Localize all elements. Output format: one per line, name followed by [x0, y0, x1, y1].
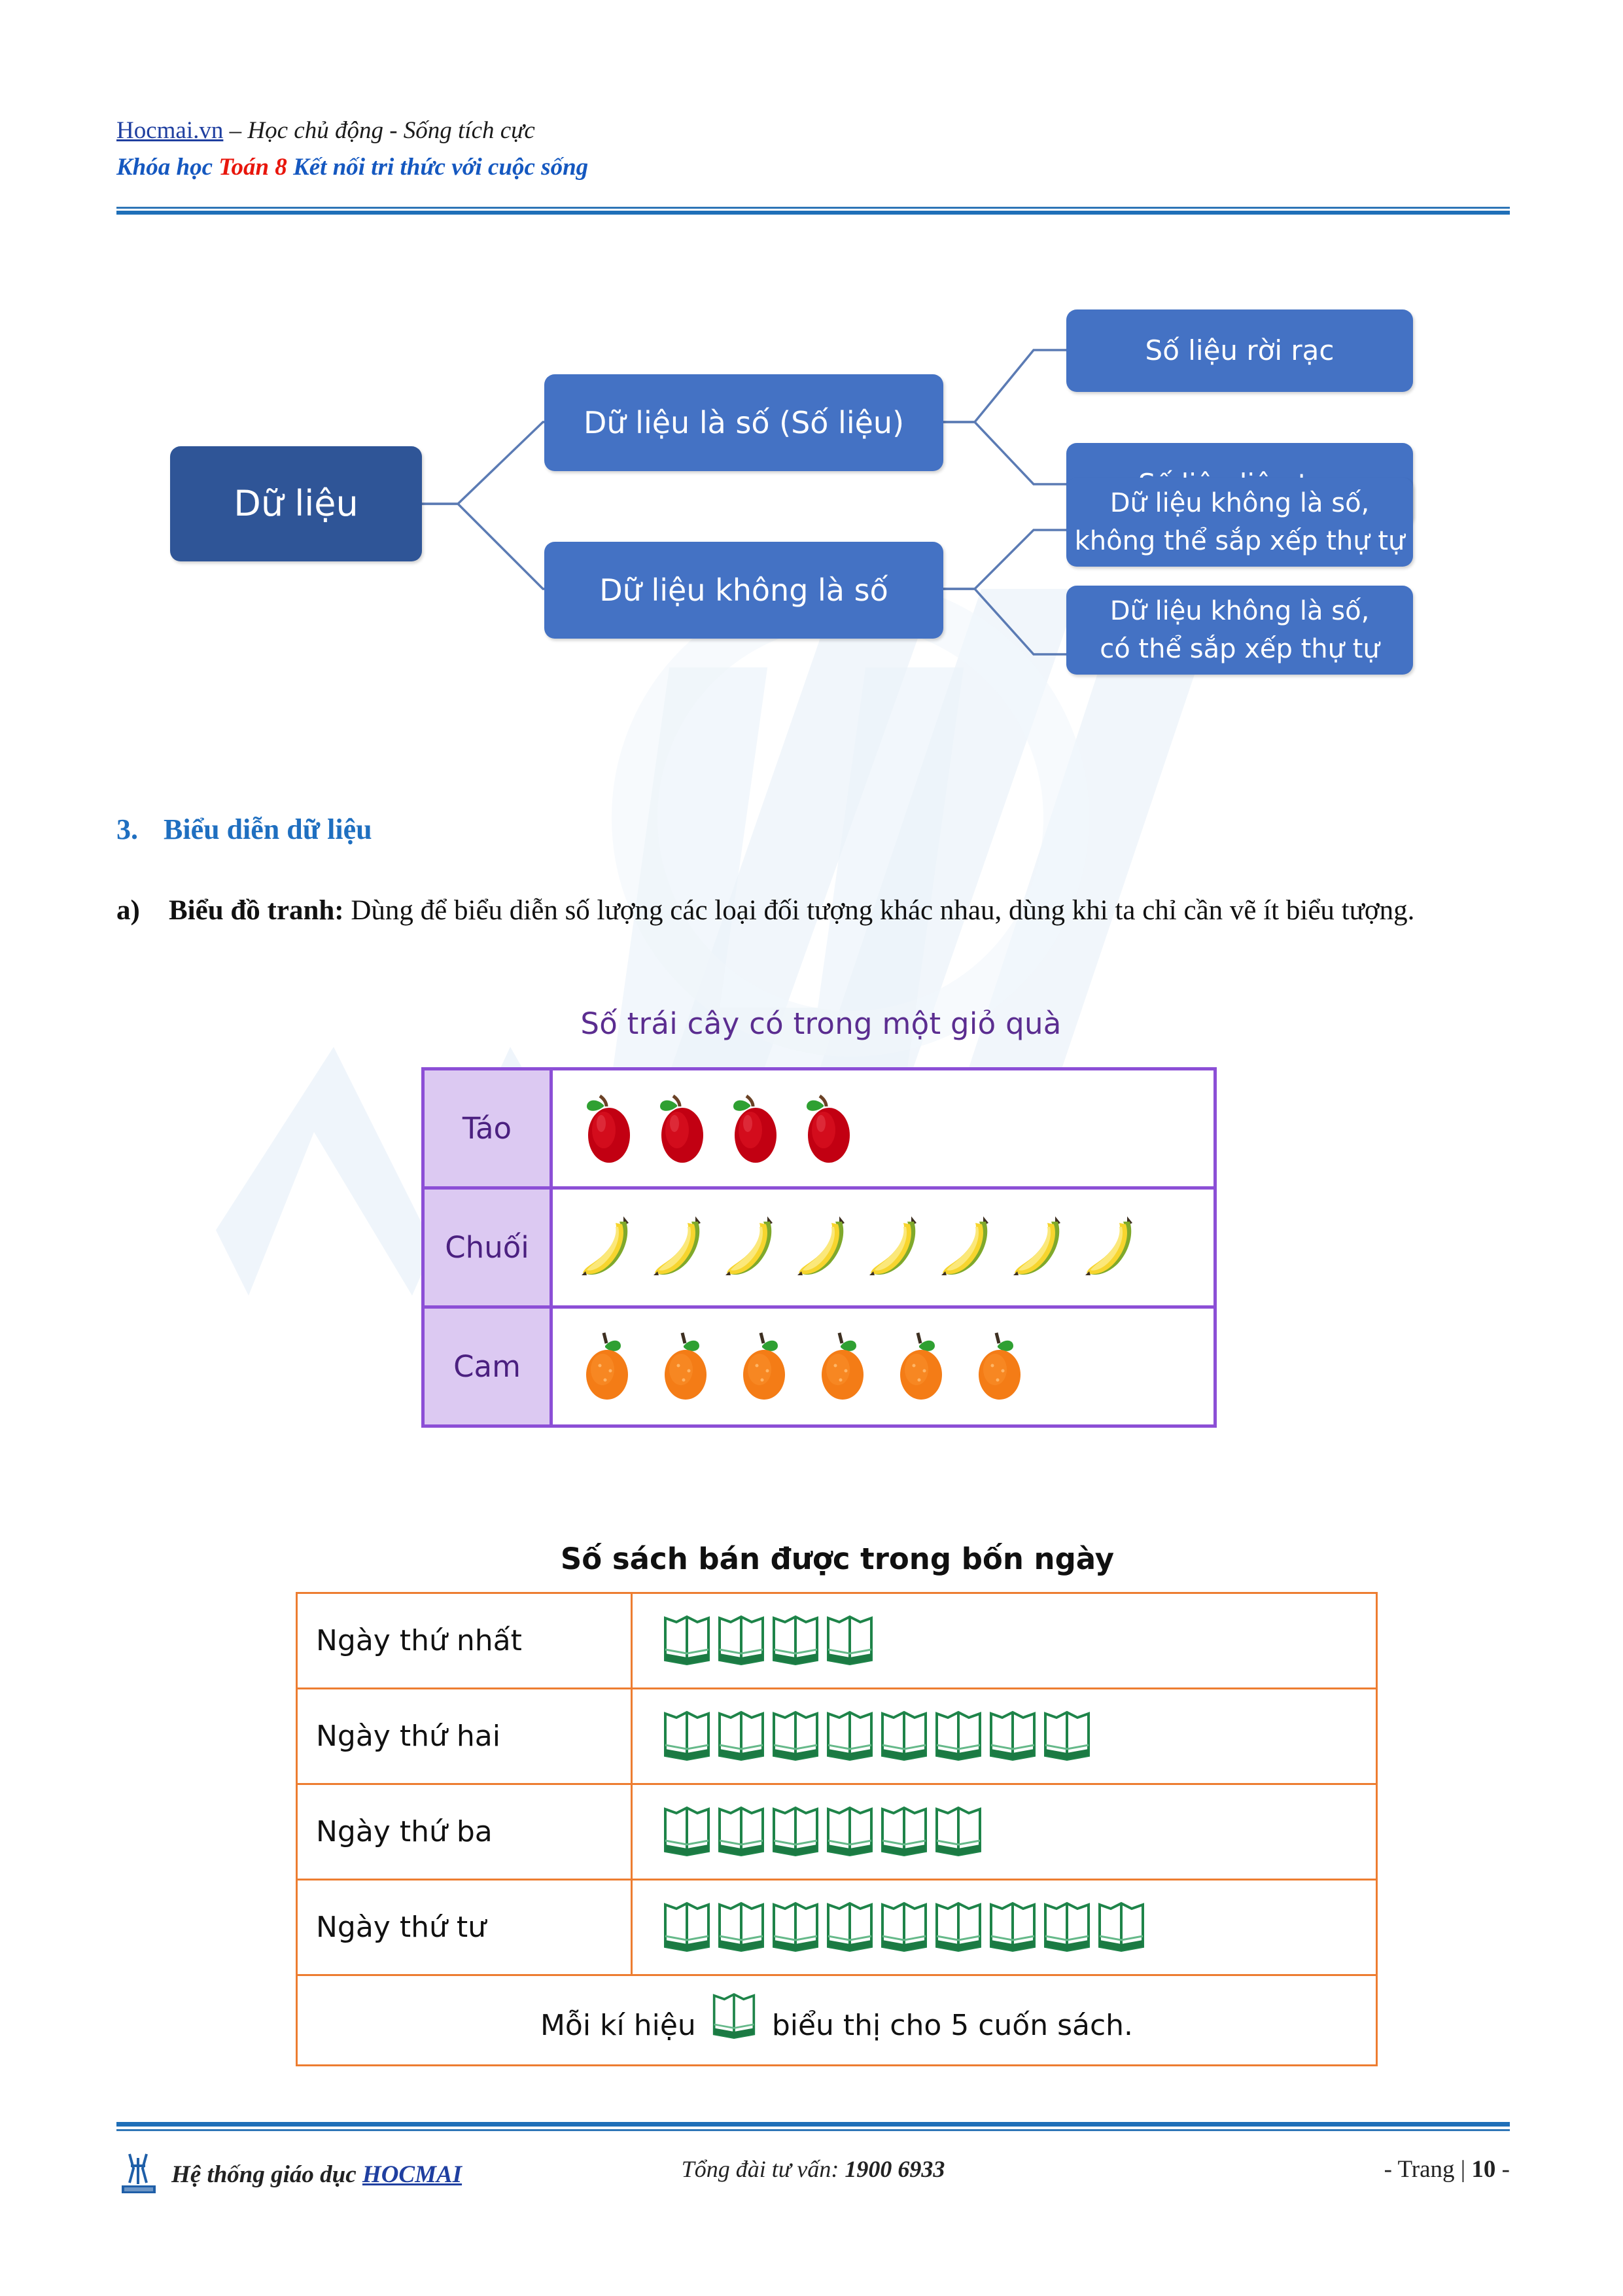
book-legend-prefix: Mỗi kí hiệu: [540, 2009, 696, 2042]
course-subject: Toán 8: [218, 154, 287, 181]
fruit-row-icons-cam: [551, 1307, 1215, 1426]
open-book-icon: [826, 1708, 874, 1765]
header-tagline: – Học chủ động - Sống tích cực: [223, 117, 534, 144]
document-page: Hocmai.vn – Học chủ động - Sống tích cực…: [0, 0, 1623, 2296]
banana-icon-group: [578, 1211, 1207, 1284]
open-book-icon-group: [663, 1899, 1369, 1956]
book-chart-title: Số sách bán được trong bốn ngày: [294, 1542, 1380, 1576]
diagram-node-root[interactable]: Dữ liệu: [170, 446, 422, 561]
open-book-icon: [663, 1613, 711, 1669]
open-book-icon-group: [663, 1613, 1369, 1669]
hocmai-site-link[interactable]: Hocmai.vn: [116, 117, 223, 144]
apple-icon: [578, 1092, 640, 1165]
open-book-icon: [712, 1990, 756, 2050]
open-book-icon: [771, 1804, 820, 1860]
open-book-icon: [1097, 1899, 1145, 1956]
diagram-leaf-ordered-label: Dữ liệu không là số, có thể sắp xếp thự …: [1100, 592, 1380, 668]
page-header: Hocmai.vn – Học chủ động - Sống tích cực…: [116, 115, 1510, 184]
header-divider: [116, 207, 1510, 215]
book-row-label-day1: Ngày thứ nhất: [297, 1593, 632, 1689]
course-prefix: Khóa học: [116, 154, 218, 181]
open-book-icon: [717, 1804, 765, 1860]
open-book-icon: [1043, 1708, 1091, 1765]
orange-icon: [735, 1332, 796, 1402]
banana-icon: [1081, 1211, 1147, 1284]
open-book-icon: [663, 1804, 711, 1860]
open-book-icon: [663, 1899, 711, 1956]
book-row-label-day4: Ngày thứ tư: [297, 1880, 632, 1975]
footer-hotline-number: 1900 6933: [845, 2156, 945, 2182]
open-book-icon: [988, 1708, 1037, 1765]
footer-hotline: Tổng đài tư vấn: 1900 6933: [682, 2155, 945, 2183]
orange-icon: [578, 1332, 639, 1402]
footer-page-prefix: - Trang |: [1384, 2156, 1472, 2183]
open-book-icon: [934, 1804, 983, 1860]
footer-brand-text: Hệ thống giáo dục HOCMAI: [171, 2161, 462, 2189]
paragraph-a-lead: Biểu đồ tranh:: [169, 895, 344, 926]
diagram-leaf-unordered-label: Dữ liệu không là số, không thể sắp xếp t…: [1075, 484, 1405, 560]
orange-icon: [813, 1332, 875, 1402]
diagram-leaf-ordered[interactable]: Dữ liệu không là số, có thể sắp xếp thự …: [1066, 586, 1413, 675]
open-book-icon: [934, 1708, 983, 1765]
open-book-icon: [771, 1613, 820, 1669]
open-book-icon: [826, 1899, 874, 1956]
fruit-chart-title: Số trái cây có trong một giỏ quà: [419, 1006, 1223, 1041]
diagram-node-nonnumeric-label: Dữ liệu không là số: [599, 569, 888, 612]
header-tagline-line: Hocmai.vn – Học chủ động - Sống tích cực: [116, 115, 1510, 147]
paragraph-a: a) Biểu đồ tranh: Dùng để biểu diễn số l…: [116, 890, 1510, 932]
table-row: Ngày thứ hai: [297, 1689, 1377, 1784]
banana-icon: [578, 1211, 643, 1284]
table-row: Táo: [423, 1069, 1215, 1188]
book-row-icons-day4: [632, 1880, 1377, 1975]
book-pictograph-table: Ngày thứ nhất Ngày thứ hai: [296, 1592, 1378, 2066]
orange-icon: [656, 1332, 718, 1402]
diagram-node-numeric[interactable]: Dữ liệu là số (Số liệu): [544, 374, 943, 471]
open-book-icon: [771, 1899, 820, 1956]
book-row-icons-day2: [632, 1689, 1377, 1784]
table-row: Ngày thứ tư: [297, 1880, 1377, 1975]
orange-icon-group: [578, 1332, 1207, 1402]
open-book-icon: [826, 1804, 874, 1860]
open-book-icon: [771, 1708, 820, 1765]
book-legend-note: Mỗi kí hiệu biểu thị cho 5 cuốn sách.: [297, 1975, 1377, 2066]
book-row-label-day2: Ngày thứ hai: [297, 1689, 632, 1784]
diagram-leaf-unordered[interactable]: Dữ liệu không là số, không thể sắp xếp t…: [1066, 478, 1413, 567]
open-book-icon: [826, 1613, 874, 1669]
fruit-row-label-cam: Cam: [423, 1307, 551, 1426]
diagram-node-nonnumeric[interactable]: Dữ liệu không là số: [544, 542, 943, 639]
course-suffix: Kết nối tri thức với cuộc sống: [287, 154, 588, 181]
hocmai-logo-icon: [116, 2151, 161, 2197]
banana-icon: [937, 1211, 1003, 1284]
open-book-icon: [880, 1899, 928, 1956]
open-book-icon: [934, 1899, 983, 1956]
fruit-row-icons-tao: [551, 1069, 1215, 1188]
footer-page-number: - Trang | 10 -: [1384, 2155, 1510, 2183]
apple-icon: [651, 1092, 714, 1165]
diagram-node-root-label: Dữ liệu: [234, 478, 358, 529]
footer-brand: Hệ thống giáo dục HOCMAI: [116, 2151, 462, 2197]
section-number: 3.: [116, 813, 164, 846]
banana-icon: [1009, 1211, 1075, 1284]
open-book-icon: [663, 1708, 711, 1765]
apple-icon: [724, 1092, 787, 1165]
banana-icon: [650, 1211, 715, 1284]
fruit-row-icons-chuoi: [551, 1188, 1215, 1307]
data-classification-diagram: Dữ liệu Dữ liệu là số (Số liệu) Dữ liệu …: [0, 236, 1623, 759]
section-title: Biểu diễn dữ liệu: [164, 813, 372, 845]
book-row-icons-day1: [632, 1593, 1377, 1689]
orange-icon: [892, 1332, 953, 1402]
fruit-row-label-tao: Táo: [423, 1069, 551, 1188]
open-book-icon-group: [663, 1708, 1369, 1765]
paragraph-a-text: Dùng để biểu diễn số lượng các loại đối …: [344, 895, 1415, 926]
footer-page-suffix: -: [1495, 2156, 1510, 2183]
banana-icon: [722, 1211, 787, 1284]
table-row: Ngày thứ ba: [297, 1784, 1377, 1880]
fruit-row-label-chuoi: Chuối: [423, 1188, 551, 1307]
book-row-icons-day3: [632, 1784, 1377, 1880]
page-footer: Hệ thống giáo dục HOCMAI Tổng đài tư vấn…: [116, 2151, 1510, 2210]
table-row: Cam: [423, 1307, 1215, 1426]
banana-icon: [865, 1211, 931, 1284]
footer-hotline-label: Tổng đài tư vấn:: [682, 2156, 845, 2182]
table-row: Chuối: [423, 1188, 1215, 1307]
paragraph-a-marker: a): [116, 890, 140, 932]
open-book-icon: [1043, 1899, 1091, 1956]
banana-icon: [794, 1211, 859, 1284]
footer-hocmai-link[interactable]: HOCMAI: [362, 2161, 462, 2188]
header-course-line: Khóa học Toán 8 Kết nối tri thức với cuộ…: [116, 151, 1510, 184]
footer-brand-prefix: Hệ thống giáo dục: [171, 2161, 362, 2188]
open-book-icon: [988, 1899, 1037, 1956]
open-book-icon: [717, 1613, 765, 1669]
apple-icon-group: [578, 1092, 1207, 1165]
open-book-icon: [717, 1899, 765, 1956]
open-book-icon: [880, 1708, 928, 1765]
book-legend-suffix: biểu thị cho 5 cuốn sách.: [772, 2009, 1133, 2042]
footer-page-value: 10: [1471, 2156, 1495, 2183]
table-row: Mỗi kí hiệu biểu thị cho 5 cuốn sách.: [297, 1975, 1377, 2066]
table-row: Ngày thứ nhất: [297, 1593, 1377, 1689]
apple-icon: [797, 1092, 860, 1165]
book-row-label-day3: Ngày thứ ba: [297, 1784, 632, 1880]
fruit-pictograph-table: Táo Chuối: [421, 1067, 1217, 1428]
diagram-leaf-discrete[interactable]: Số liệu rời rạc: [1066, 309, 1413, 392]
page-title: 3.Biểu diễn dữ liệu: [116, 813, 372, 846]
diagram-leaf-discrete-label: Số liệu rời rạc: [1145, 331, 1335, 371]
footer-divider: [116, 2122, 1510, 2131]
diagram-node-numeric-label: Dữ liệu là số (Số liệu): [584, 401, 904, 445]
open-book-icon: [880, 1804, 928, 1860]
open-book-icon-group: [663, 1804, 1369, 1860]
open-book-icon: [717, 1708, 765, 1765]
orange-icon: [970, 1332, 1032, 1402]
